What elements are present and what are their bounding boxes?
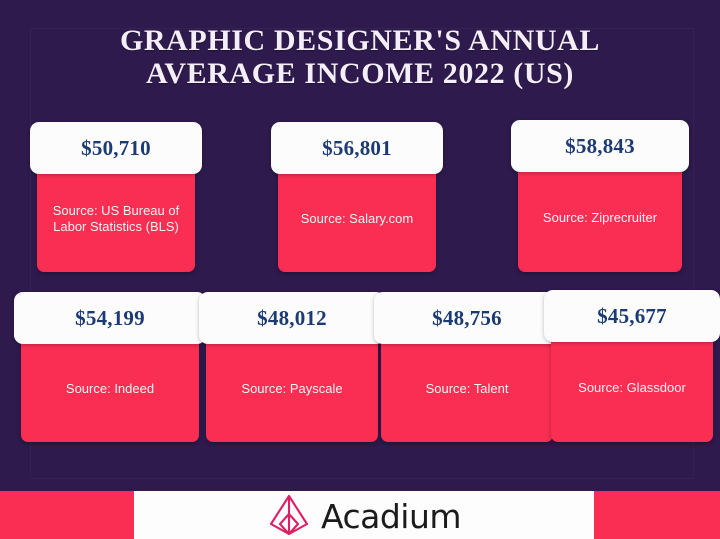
card-amount-label: $58,843 [511, 120, 689, 172]
infographic-canvas: GRAPHIC DESIGNER'S ANNUAL AVERAGE INCOME… [0, 0, 720, 539]
card-amount-value: $54,199 [75, 306, 145, 331]
acadium-diamond-logo-icon [267, 493, 311, 537]
income-card-glassdoor: $45,677 Source: Glassdoor [544, 290, 720, 442]
card-amount-value: $45,677 [597, 304, 667, 329]
footer-accent-bar-left [0, 491, 134, 539]
card-amount-value: $50,710 [81, 136, 151, 161]
card-amount-label: $54,199 [14, 292, 206, 344]
card-amount-value: $48,756 [432, 306, 502, 331]
card-amount-value: $48,012 [257, 306, 327, 331]
title-line-2: AVERAGE INCOME 2022 (US) [0, 57, 720, 90]
brand-name: Acadium [321, 500, 461, 533]
income-card-indeed: $54,199 Source: Indeed [14, 292, 206, 442]
card-source-text: Source: Ziprecruiter [518, 172, 682, 272]
card-amount-label: $56,801 [271, 122, 443, 174]
footer-accent-bar-right [594, 491, 720, 539]
income-card-talent: $48,756 Source: Talent [374, 292, 560, 442]
footer: Acadium [0, 491, 720, 539]
card-amount-label: $48,756 [374, 292, 560, 344]
income-card-salarycom: $56,801 Source: Salary.com [271, 122, 443, 272]
card-source-text: Source: US Bureau of Labor Statistics (B… [37, 174, 195, 272]
income-card-payscale: $48,012 Source: Payscale [199, 292, 385, 442]
card-source-text: Source: Payscale [206, 344, 378, 442]
income-card-ziprecruiter: $58,843 Source: Ziprecruiter [511, 120, 689, 272]
card-source-text: Source: Salary.com [278, 174, 436, 272]
card-amount-value: $56,801 [322, 136, 392, 161]
card-amount-label: $45,677 [544, 290, 720, 342]
brand-lockup: Acadium [134, 491, 594, 539]
card-source-text: Source: Talent [381, 344, 553, 442]
card-amount-label: $48,012 [199, 292, 385, 344]
card-source-text: Source: Glassdoor [551, 342, 713, 442]
page-title: GRAPHIC DESIGNER'S ANNUAL AVERAGE INCOME… [0, 24, 720, 90]
title-line-1: GRAPHIC DESIGNER'S ANNUAL [0, 24, 720, 57]
income-card-bls: $50,710 Source: US Bureau of Labor Stati… [30, 122, 202, 272]
card-amount-value: $58,843 [565, 134, 635, 159]
card-amount-label: $50,710 [30, 122, 202, 174]
card-source-text: Source: Indeed [21, 344, 199, 442]
